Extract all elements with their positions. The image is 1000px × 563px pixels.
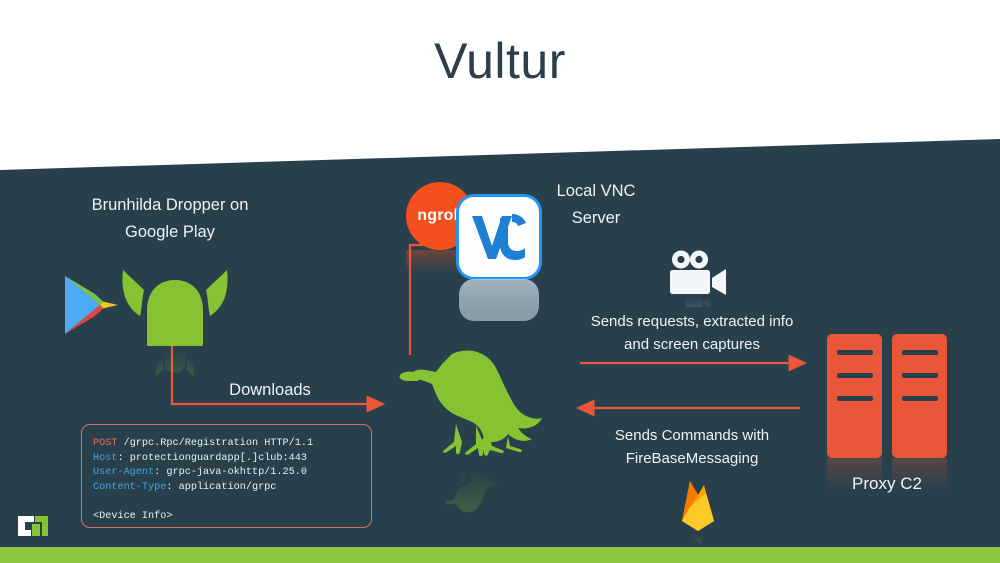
code-line: Content-Type: application/grpc — [93, 481, 371, 496]
code-header: User-Agent — [93, 467, 154, 478]
code-rest: : protectionguardapp[.]club:443 — [117, 453, 307, 464]
server-slot — [837, 373, 873, 378]
server-slot — [902, 350, 938, 355]
google-play-icon — [62, 272, 124, 338]
to-c2-label-line1: Sends requests, extracted info — [591, 313, 794, 330]
proxy-c2-label: Proxy C2 — [807, 474, 967, 494]
code-rest: : application/grpc — [166, 482, 276, 493]
from-c2-edge-label: Sends Commands withFireBaseMessaging — [572, 424, 812, 470]
firebase-flame-icon — [676, 477, 720, 533]
code-header: Content-Type — [93, 482, 166, 493]
bottom-accent-bar — [0, 547, 1000, 563]
vnc-label-line1: Local VNC — [557, 182, 636, 200]
dropper-label-line2: Google Play — [125, 223, 215, 241]
to-c2-label-line2: and screen captures — [624, 336, 760, 353]
server-rack-icon — [827, 334, 947, 458]
server-unit-left — [827, 334, 882, 458]
server-slot — [902, 396, 938, 401]
code-method: POST — [93, 438, 117, 449]
page-title: Vultur — [0, 32, 1000, 90]
server-slot — [837, 396, 873, 401]
code-line: POST /grpc.Rpc/Registration HTTP/1.1 — [93, 437, 371, 452]
code-body: <Device Info> — [93, 511, 172, 522]
server-unit-right — [892, 334, 947, 458]
threatfabric-logo — [17, 511, 49, 541]
code-rest: : grpc-java-okhttp/1.25.0 — [154, 467, 307, 478]
from-c2-label-line2: FireBaseMessaging — [626, 450, 759, 467]
http-request-code-block: POST /grpc.Rpc/Registration HTTP/1.1 Hos… — [81, 424, 372, 528]
code-line: <Device Info> — [93, 510, 371, 525]
dropper-label-line1: Brunhilda Dropper on — [92, 196, 249, 214]
code-line: User-Agent: grpc-java-okhttp/1.25.0 — [93, 466, 371, 481]
downloads-edge-label: Downloads — [195, 377, 345, 404]
viking-helmet-icon — [120, 266, 230, 348]
vnc-logo-reflection — [459, 279, 539, 321]
video-camera-icon — [666, 250, 728, 296]
server-slot — [837, 350, 873, 355]
dropper-label: Brunhilda Dropper onGoogle Play — [40, 192, 300, 246]
from-c2-label-line1: Sends Commands with — [615, 427, 769, 444]
code-rest: /grpc.Rpc/Registration HTTP/1.1 — [117, 438, 313, 449]
vulture-reflection — [392, 466, 544, 514]
code-blank-line — [93, 495, 371, 510]
code-header: Host — [93, 453, 117, 464]
server-slot — [902, 373, 938, 378]
vnc-label-line2: Server — [572, 209, 621, 227]
to-c2-edge-label: Sends requests, extracted infoand screen… — [572, 310, 812, 356]
ngrok-label: ngrok — [417, 207, 462, 225]
code-line: Host: protectionguardapp[.]club:443 — [93, 452, 371, 467]
vulture-bird-icon — [392, 346, 544, 466]
vnc-label: Local VNCServer — [516, 178, 676, 232]
slide-canvas: Vultur Brunhilda Dropper onGoogle Play — [0, 0, 1000, 563]
viking-helmet-reflection — [120, 348, 230, 378]
